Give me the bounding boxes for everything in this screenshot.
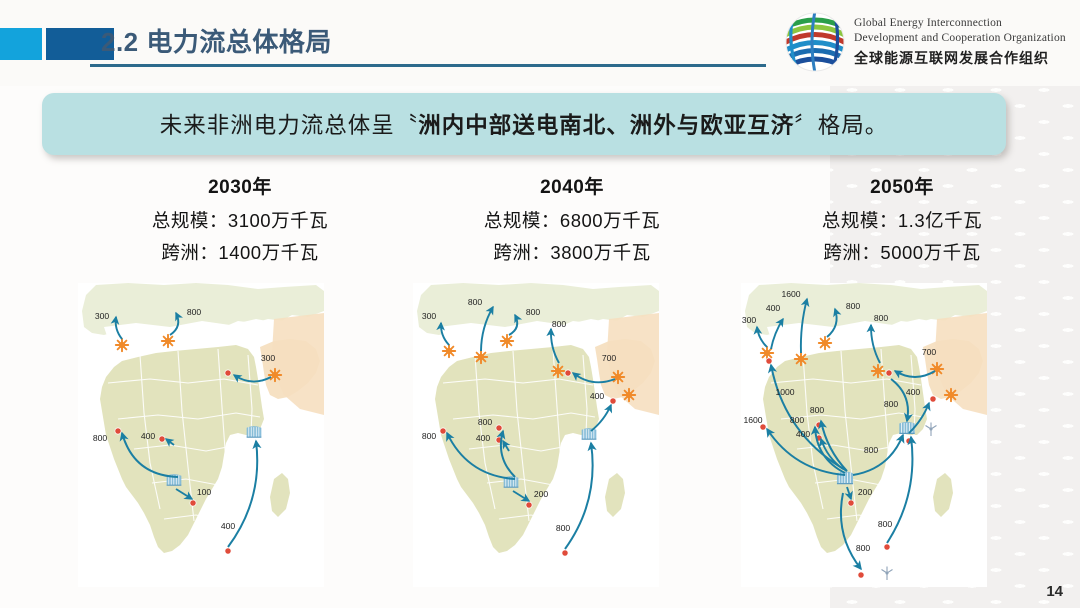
svg-text:800: 800: [864, 445, 879, 455]
banner-prefix: 未来非洲电力流总体呈〝: [160, 113, 419, 138]
organization-logo: Global Energy Interconnection Developmen…: [784, 8, 1074, 74]
svg-text:400: 400: [590, 391, 605, 401]
svg-text:300: 300: [95, 311, 110, 321]
africa-power-flow-map-2040: 300800800800700400800800400200800: [413, 283, 659, 587]
svg-text:800: 800: [810, 405, 825, 415]
svg-text:300: 300: [742, 315, 757, 325]
summary-banner: 未来非洲电力流总体呈〝洲内中部送电南北、洲外与欧亚互济〞格局。: [42, 93, 1006, 155]
africa-power-flow-map-2030: 300800300800400100400: [78, 283, 324, 587]
scenario-year-label: 2030年: [80, 172, 400, 199]
svg-text:700: 700: [922, 347, 937, 357]
svg-text:700: 700: [602, 353, 617, 363]
svg-text:400: 400: [796, 429, 811, 439]
globe-logo-icon: [784, 11, 846, 73]
svg-text:800: 800: [556, 523, 571, 533]
title-divider: [90, 64, 766, 67]
banner-emphasis: 洲内中部送电南北、洲外与欧亚互济: [418, 113, 794, 138]
svg-text:1600: 1600: [743, 415, 762, 425]
africa-power-flow-map-2050: 3004001600800800700400800100016008008004…: [741, 283, 987, 587]
scenario-total-scale: 总规模：6800万千瓦: [412, 205, 732, 237]
svg-text:800: 800: [187, 307, 202, 317]
scenario-column-2050: 2050年 总规模：1.3亿千瓦 跨洲：5000万千瓦: [742, 172, 1062, 269]
scenario-cross-continent: 跨洲：1400万千瓦: [80, 237, 400, 269]
svg-text:400: 400: [906, 387, 921, 397]
scenario-year-label: 2040年: [412, 172, 732, 199]
svg-text:800: 800: [478, 417, 493, 427]
svg-text:800: 800: [878, 519, 893, 529]
svg-text:800: 800: [874, 313, 889, 323]
svg-text:1000: 1000: [775, 387, 794, 397]
scenario-year-label: 2050年: [742, 172, 1062, 199]
svg-text:300: 300: [422, 311, 437, 321]
logo-en-line2: Development and Cooperation Organization: [854, 31, 1066, 46]
svg-text:400: 400: [766, 303, 781, 313]
svg-text:800: 800: [846, 301, 861, 311]
svg-text:800: 800: [422, 431, 437, 441]
svg-text:200: 200: [858, 487, 873, 497]
svg-text:800: 800: [790, 415, 805, 425]
banner-suffix: 〞格局。: [794, 113, 888, 138]
svg-text:300: 300: [261, 353, 276, 363]
svg-text:800: 800: [93, 433, 108, 443]
summary-banner-text: 未来非洲电力流总体呈〝洲内中部送电南北、洲外与欧亚互济〞格局。: [160, 108, 889, 140]
svg-text:800: 800: [468, 297, 483, 307]
scenario-total-scale: 总规模：3100万千瓦: [80, 205, 400, 237]
page-title: 2.2 电力流总体格局: [101, 22, 332, 59]
svg-text:800: 800: [526, 307, 541, 317]
svg-text:800: 800: [884, 399, 899, 409]
scenario-total-scale: 总规模：1.3亿千瓦: [742, 205, 1062, 237]
slide-header: 2.2 电力流总体格局 Global Energy Interconnectio: [0, 0, 1080, 86]
svg-text:400: 400: [221, 521, 236, 531]
svg-text:1600: 1600: [781, 289, 800, 299]
logo-en-line1: Global Energy Interconnection: [854, 16, 1066, 31]
header-accent-cyan: [0, 28, 42, 60]
svg-text:400: 400: [141, 431, 156, 441]
scenario-column-2040: 2040年 总规模：6800万千瓦 跨洲：3800万千瓦: [412, 172, 732, 269]
svg-text:800: 800: [856, 543, 871, 553]
scenario-column-2030: 2030年 总规模：3100万千瓦 跨洲：1400万千瓦: [80, 172, 400, 269]
scenario-cross-continent: 跨洲：3800万千瓦: [412, 237, 732, 269]
svg-text:800: 800: [552, 319, 567, 329]
svg-text:400: 400: [476, 433, 491, 443]
scenario-cross-continent: 跨洲：5000万千瓦: [742, 237, 1062, 269]
page-number: 14: [1046, 583, 1063, 600]
svg-text:100: 100: [197, 487, 212, 497]
svg-text:200: 200: [534, 489, 549, 499]
logo-cn-line: 全球能源互联网发展合作组织: [854, 48, 1066, 68]
